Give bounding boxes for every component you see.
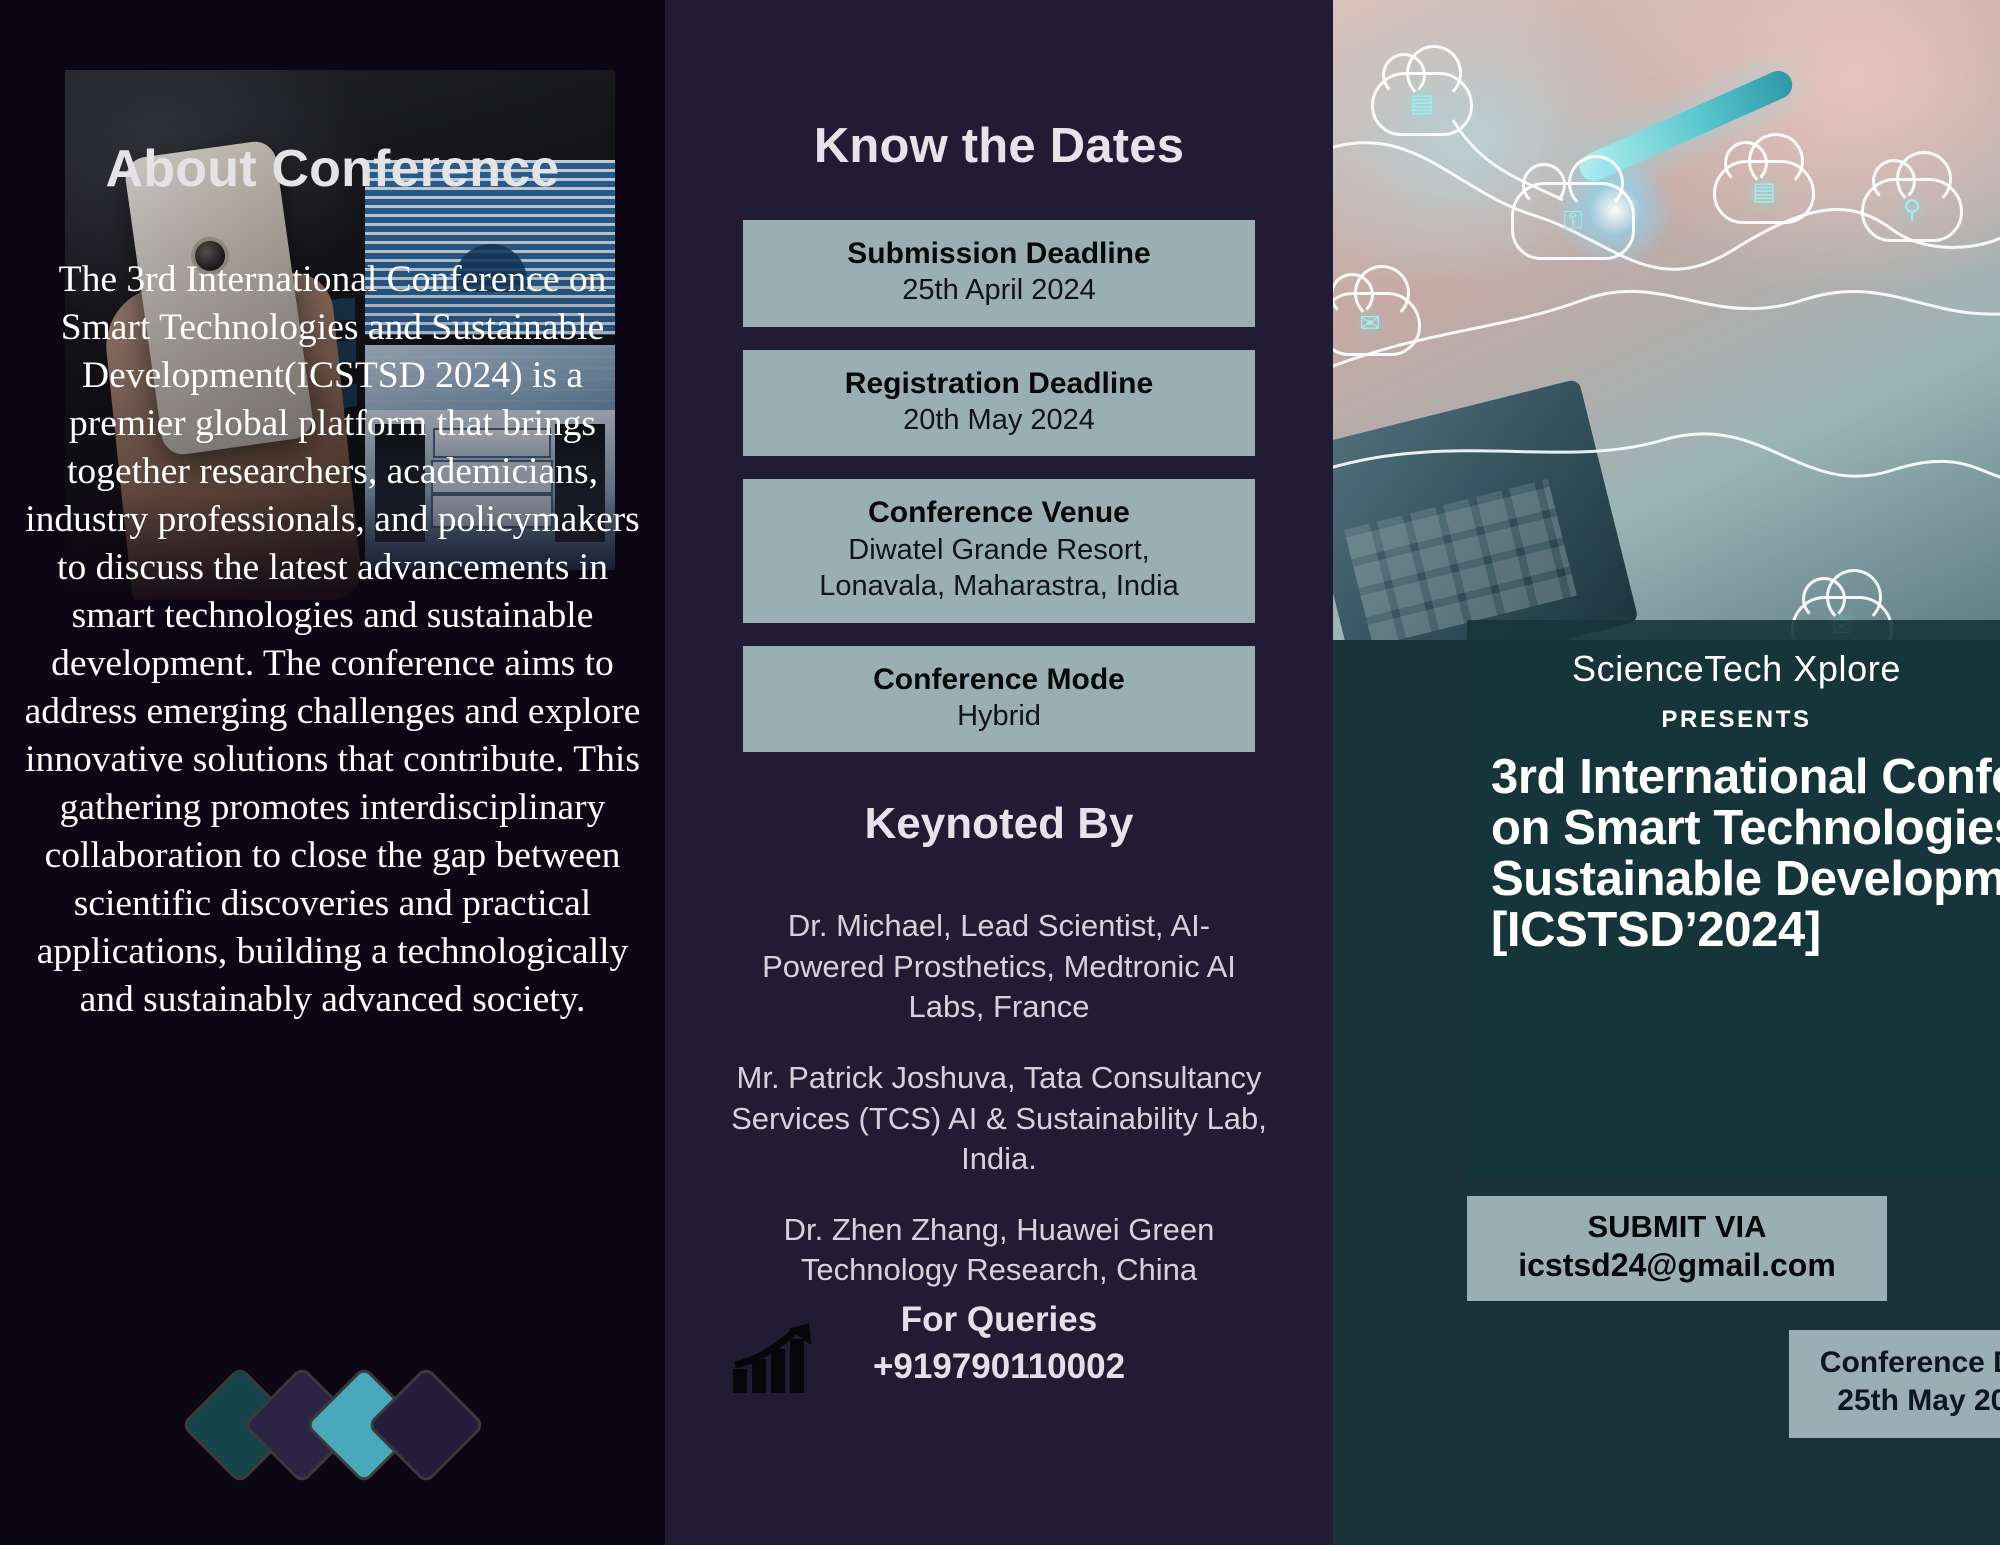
info-box-value: Diwatel Grande Resort, Lonavala, Maharas… xyxy=(753,532,1245,605)
cloud-analytics-glyph: ▤ xyxy=(1410,92,1434,117)
cloud-analytics-icon: ▤ xyxy=(1371,72,1473,136)
cloud-lock-icon: ⚿ xyxy=(1511,182,1635,260)
keynote-speaker-list: Dr. Michael, Lead Scientist, AI-Powered … xyxy=(665,849,1333,1390)
presents-label: PRESENTS xyxy=(1491,706,1982,734)
info-box-conference-mode: Conference Mode Hybrid xyxy=(743,646,1255,753)
info-box-submission-deadline: Submission Deadline 25th April 2024 xyxy=(743,220,1255,327)
panel-about-conference: About Conference The 3rd International C… xyxy=(0,0,665,1545)
know-the-dates-heading: Know the Dates xyxy=(665,0,1333,174)
cloud-lock-glyph: ⚿ xyxy=(1563,209,1582,234)
growth-bar-chart-icon xyxy=(731,1321,815,1397)
submit-via-label: SUBMIT VIA xyxy=(1481,1208,1873,1246)
keynote-speaker: Dr. Michael, Lead Scientist, AI-Powered … xyxy=(731,906,1267,1027)
cloud-mail-icon: ✉ xyxy=(1333,292,1421,356)
panel-conference-title: ▤ ⚿ ▤ ⚲ ✉ ✉ ScienceTech Xplore PRESENTS … xyxy=(1333,0,2000,1545)
info-box-title: Submission Deadline xyxy=(753,235,1245,272)
diamond-purple-deep xyxy=(366,1366,485,1485)
cloud-mail-glyph: ✉ xyxy=(1360,312,1381,337)
submit-via-box[interactable]: SUBMIT VIA icstsd24@gmail.com xyxy=(1467,1196,1887,1301)
panel-know-the-dates: Know the Dates Submission Deadline 25th … xyxy=(665,0,1333,1545)
info-box-value: Hybrid xyxy=(753,698,1245,735)
diamond-decoration-group xyxy=(0,1365,665,1485)
info-box-conference-venue: Conference Venue Diwatel Grande Resort, … xyxy=(743,479,1255,622)
info-box-registration-deadline: Registration Deadline 20th May 2024 xyxy=(743,350,1255,457)
cloud-search-icon: ⚲ xyxy=(1861,178,1963,242)
about-conference-heading: About Conference xyxy=(0,139,665,199)
cloud-chart-icon: ▤ xyxy=(1713,160,1815,224)
cloud-search-glyph: ⚲ xyxy=(1903,198,1921,223)
conference-brochure: About Conference The 3rd International C… xyxy=(0,0,2000,1545)
conference-title-card: ScienceTech Xplore PRESENTS 3rd Internat… xyxy=(1467,620,2000,1180)
conference-title: 3rd International Conference on Smart Te… xyxy=(1491,752,2000,956)
info-box-value: 25th April 2024 xyxy=(753,272,1245,309)
conference-date-box: Conference Date 25th May 2024 xyxy=(1789,1330,2000,1438)
conference-date-value: 25th May 2024 xyxy=(1807,1382,2000,1420)
conference-date-label: Conference Date xyxy=(1807,1344,2000,1382)
hero-photo: ▤ ⚿ ▤ ⚲ ✉ ✉ xyxy=(1333,0,2000,640)
info-box-list: Submission Deadline 25th April 2024 Regi… xyxy=(665,220,1333,752)
brand-name: ScienceTech Xplore xyxy=(1491,648,1982,690)
keynoted-by-heading: Keynoted By xyxy=(665,775,1333,849)
info-box-value: 20th May 2024 xyxy=(753,402,1245,439)
laptop-illustration xyxy=(1333,379,1639,640)
keynote-speaker: Mr. Patrick Joshuva, Tata Consultancy Se… xyxy=(731,1058,1267,1179)
info-box-title: Registration Deadline xyxy=(753,365,1245,402)
keynote-speaker: Dr. Zhen Zhang, Huawei Green Technology … xyxy=(731,1210,1267,1291)
about-conference-body: The 3rd International Conference on Smar… xyxy=(24,256,641,1024)
info-box-title: Conference Mode xyxy=(753,661,1245,698)
info-box-title: Conference Venue xyxy=(753,494,1245,531)
submit-email[interactable]: icstsd24@gmail.com xyxy=(1481,1246,1873,1285)
cloud-chart-glyph: ▤ xyxy=(1752,180,1776,205)
